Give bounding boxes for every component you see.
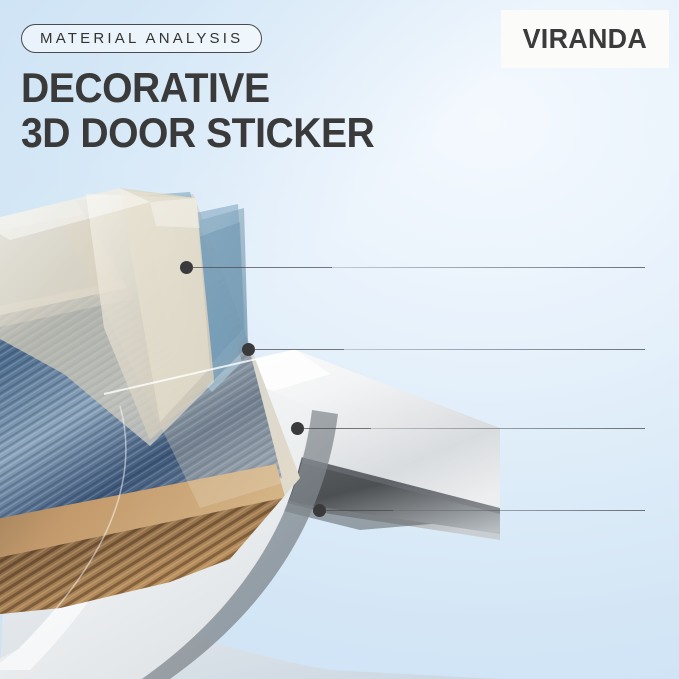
infographic-canvas: MATERIAL ANALYSIS DECORATIVE 3D DOOR STI…: [0, 0, 679, 679]
brand-name: VIRANDA: [523, 23, 647, 55]
material-analysis-badge: MATERIAL ANALYSIS: [21, 24, 262, 53]
callout-leader-4: [325, 510, 393, 511]
brand-logo: VIRANDA: [501, 10, 669, 68]
badge-label: MATERIAL ANALYSIS: [40, 30, 243, 47]
title-line-2: 3D DOOR STICKER: [21, 110, 374, 155]
callout-rule-4: [393, 510, 645, 511]
title-line-1: DECORATIVE: [21, 64, 270, 111]
callout-rule-2: [344, 349, 645, 350]
page-title: DECORATIVE 3D DOOR STICKER: [21, 65, 374, 155]
callout-leader-2: [254, 349, 344, 350]
callout-rule-3: [371, 428, 645, 429]
callout-rule-1: [330, 267, 645, 268]
callout-leader-1: [192, 267, 332, 268]
callout-leader-3: [303, 428, 371, 429]
